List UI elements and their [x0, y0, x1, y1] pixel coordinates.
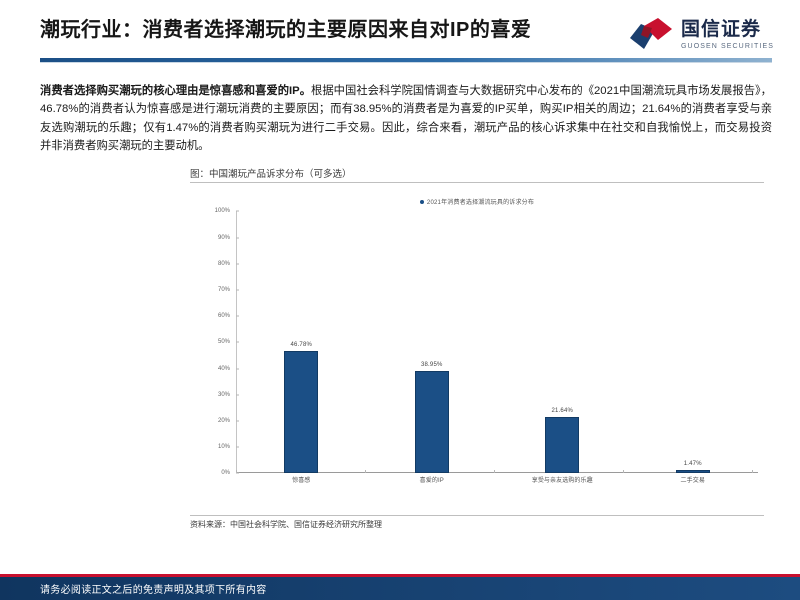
body-paragraph: 消费者选择购买潮玩的核心理由是惊喜感和喜爱的IP。根据中国社会科学院国情调查与大…: [40, 82, 772, 155]
y-axis-tick-label: 60%: [218, 313, 230, 319]
chart-bar-group: 21.64%: [497, 211, 628, 473]
x-axis-tick-label: 喜爱的IP: [367, 475, 498, 491]
slide-header: 潮玩行业：消费者选择潮玩的主要原因来自对IP的喜爱 国信证券 GUOSEN SE…: [0, 0, 800, 72]
chart-bar-group: 46.78%: [236, 211, 367, 473]
chart-bars: 46.78%38.95%21.64%1.47%: [236, 211, 758, 473]
y-axis-tick-mark: [236, 447, 239, 448]
x-axis-tick-mark: [623, 470, 624, 473]
x-axis-tick-mark: [494, 470, 495, 473]
x-axis-tick-mark: [365, 470, 366, 473]
slide-body: 消费者选择购买潮玩的核心理由是惊喜感和喜爱的IP。根据中国社会科学院国情调查与大…: [0, 72, 800, 600]
guosen-logo-icon: [628, 16, 674, 54]
y-axis-tick-mark: [236, 342, 239, 343]
figure-caption-rule: [190, 182, 764, 183]
figure-block: 图：中国潮玩产品诉求分布（可多选） 2021年消费者选择潮流玩具的诉求分布 10…: [40, 166, 772, 530]
x-axis-tick-label: 惊喜感: [236, 475, 367, 491]
chart-plot-area: 100%90%80%70%60%50%40%30%20%10%0% 46.78%…: [190, 211, 758, 495]
chart-bar[interactable]: [415, 371, 449, 473]
page-title: 潮玩行业：消费者选择潮玩的主要原因来自对IP的喜爱: [40, 18, 620, 43]
bar-value-label: 1.47%: [628, 461, 759, 467]
x-axis-tick-label: 二手交易: [628, 475, 759, 491]
y-axis-tick-label: 100%: [215, 208, 230, 214]
y-axis-tick-label: 90%: [218, 235, 230, 241]
figure-source: 资料来源：中国社会科学院、国信证券经济研究所整理: [190, 515, 764, 530]
y-axis-tick-mark: [236, 394, 239, 395]
slide: 潮玩行业：消费者选择潮玩的主要原因来自对IP的喜爱 国信证券 GUOSEN SE…: [0, 0, 800, 600]
chart-legend-label: 2021年消费者选择潮流玩具的诉求分布: [427, 200, 534, 206]
title-underline-thin: [40, 62, 772, 63]
y-axis-tick-mark: [236, 316, 239, 317]
x-axis-tick-mark: [236, 470, 237, 473]
chart-bar[interactable]: [545, 417, 579, 474]
title-block: 潮玩行业：消费者选择潮玩的主要原因来自对IP的喜爱: [40, 18, 620, 43]
figure-caption: 图：中国潮玩产品诉求分布（可多选）: [190, 166, 764, 180]
chart-bar-group: 38.95%: [367, 211, 498, 473]
y-axis-tick-label: 80%: [218, 261, 230, 267]
chart-bar[interactable]: [676, 470, 710, 474]
x-axis-tick-label: 享受与亲友选购的乐趣: [497, 475, 628, 491]
paragraph-lead: 消费者选择购买潮玩的核心理由是惊喜感和喜爱的IP。: [40, 85, 311, 97]
chart-bar-group: 1.47%: [628, 211, 759, 473]
y-axis-tick-label: 50%: [218, 339, 230, 345]
y-axis-tick-mark: [236, 368, 239, 369]
bar-value-label: 46.78%: [236, 342, 367, 348]
logo-name-en: GUOSEN SECURITIES: [681, 43, 774, 50]
slide-footer: 请务必阅读正文之后的免责声明及其项下所有内容: [0, 574, 800, 600]
y-axis-tick-label: 40%: [218, 366, 230, 372]
y-axis-tick-mark: [236, 263, 239, 264]
company-logo: 国信证券 GUOSEN SECURITIES: [628, 16, 774, 54]
y-axis-tick-mark: [236, 290, 239, 291]
y-axis-tick-label: 10%: [218, 444, 230, 450]
logo-name-cn: 国信证券: [681, 20, 774, 39]
y-axis-tick-label: 70%: [218, 287, 230, 293]
y-axis-tick-label: 30%: [218, 392, 230, 398]
x-axis-tick-mark: [752, 470, 753, 473]
y-axis-tick-label: 20%: [218, 418, 230, 424]
bar-value-label: 38.95%: [367, 362, 498, 368]
bar-chart: 2021年消费者选择潮流玩具的诉求分布 100%90%80%70%60%50%4…: [190, 185, 764, 515]
y-axis-tick-mark: [236, 237, 239, 238]
legend-marker-icon: [420, 200, 424, 204]
footer-disclaimer: 请务必阅读正文之后的免责声明及其项下所有内容: [40, 581, 267, 596]
bar-value-label: 21.64%: [497, 408, 628, 414]
y-axis-tick-mark: [236, 211, 239, 212]
y-axis-tick-label: 0%: [221, 470, 230, 476]
x-axis-labels: 惊喜感喜爱的IP享受与亲友选购的乐趣二手交易: [236, 475, 758, 491]
logo-wordmark: 国信证券 GUOSEN SECURITIES: [681, 20, 774, 50]
footer-bar: 请务必阅读正文之后的免责声明及其项下所有内容: [0, 577, 800, 600]
chart-bar[interactable]: [284, 351, 318, 474]
chart-legend: 2021年消费者选择潮流玩具的诉求分布: [190, 185, 764, 206]
y-axis: 100%90%80%70%60%50%40%30%20%10%0%: [190, 211, 236, 473]
y-axis-tick-mark: [236, 421, 239, 422]
